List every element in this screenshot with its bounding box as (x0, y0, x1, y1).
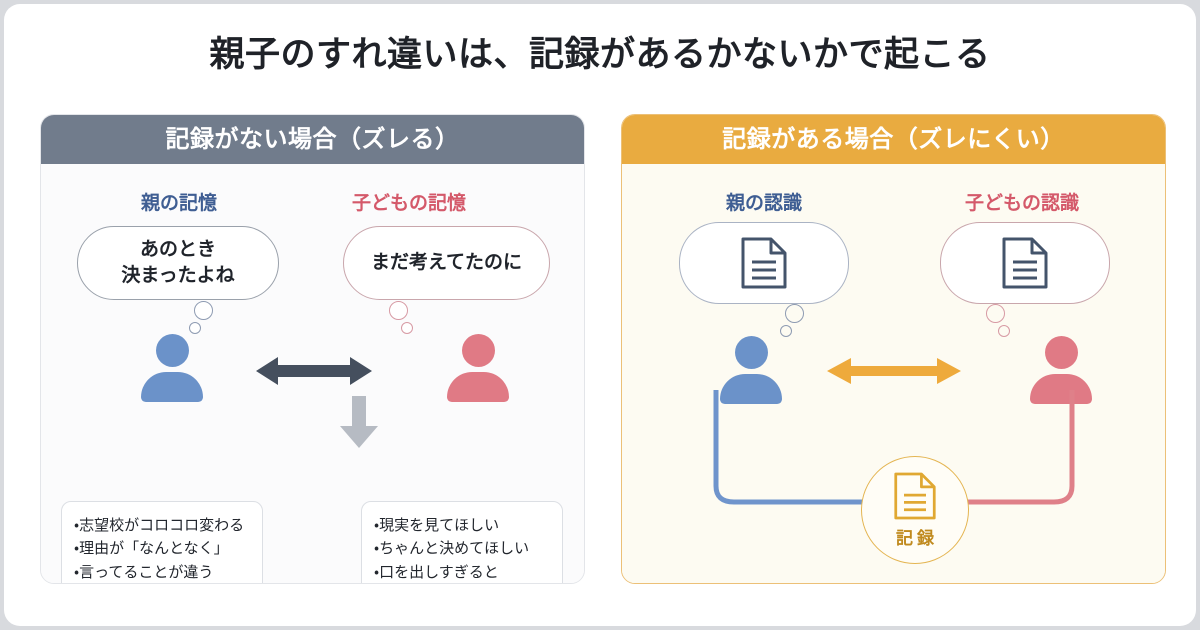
label-parent-awareness: 親の認識 (664, 188, 864, 215)
list-item: 志望校がコロコロ変わる (74, 514, 252, 537)
thought-dot-large-child (389, 301, 408, 320)
label-child-memory: 子どもの記憶 (309, 188, 509, 215)
person-icon-child (447, 334, 509, 400)
panel-no-record: 記録がない場合（ズレる） 親の記憶 子どもの記憶 あのとき 決まったよね まだ考… (40, 114, 585, 584)
bubble-child-line-1: まだ考えてたのに (371, 250, 522, 276)
infographic-canvas: 親子のすれ違いは、記録があるかないかで起こる 記録がない場合（ズレる） 親の記憶… (4, 4, 1196, 626)
person-body (447, 372, 509, 402)
bullet-box-child-concerns: 現実を見てほしい ちゃんと決めてほしい 口を出しすぎると 関係が悪くなる (361, 501, 563, 584)
document-icon (1001, 236, 1049, 290)
bubble-parent-line-2: 決まったよね (121, 265, 234, 286)
double-arrow-horizontal-icon (256, 354, 372, 388)
label-child-awareness: 子どもの認識 (922, 188, 1122, 215)
document-icon (893, 471, 937, 521)
speech-bubble-child: まだ考えてたのに (343, 226, 550, 300)
thought-dot-large-child (986, 304, 1005, 323)
record-badge: 記録 (861, 456, 969, 564)
thought-dot-small-parent (189, 322, 201, 334)
person-icon-parent (141, 334, 203, 400)
list-item: 口を出しすぎると (374, 561, 552, 584)
speech-bubble-child-document (940, 222, 1110, 304)
speech-bubble-parent-document (679, 222, 849, 304)
record-label: 記録 (892, 524, 938, 549)
list-item: 現実を見てほしい (374, 514, 552, 537)
person-body (141, 372, 203, 402)
thought-dot-large-parent (785, 304, 804, 323)
person-head (156, 334, 189, 367)
page-title: 親子のすれ違いは、記録があるかないかで起こる (4, 26, 1196, 77)
arrow-down-icon (337, 396, 381, 448)
bullet-box-parent-concerns: 志望校がコロコロ変わる 理由が「なんとなく」 言ってることが違う 関係がギクシャ… (61, 501, 263, 584)
list-item: 理由が「なんとなく」 (74, 537, 252, 560)
thought-dot-large-parent (194, 301, 213, 320)
document-icon (740, 236, 788, 290)
person-head (1045, 336, 1078, 369)
panel-with-record-header: 記録がある場合（ズレにくい） (622, 115, 1165, 164)
thought-dot-small-child (401, 322, 413, 334)
label-parent-memory: 親の記憶 (79, 188, 279, 215)
panel-no-record-body: 親の記憶 子どもの記憶 あのとき 決まったよね まだ考えてたのに (41, 164, 584, 583)
list-item: ちゃんと決めてほしい (374, 537, 552, 560)
double-arrow-horizontal-icon (827, 356, 961, 386)
panel-no-record-header: 記録がない場合（ズレる） (41, 115, 584, 164)
speech-bubble-parent: あのとき 決まったよね (77, 226, 279, 300)
bubble-parent-line-1: あのとき (140, 239, 216, 260)
person-head (462, 334, 495, 367)
thought-dot-small-child (998, 325, 1010, 337)
list-item: 言ってることが違う (74, 561, 252, 584)
person-head (735, 336, 768, 369)
